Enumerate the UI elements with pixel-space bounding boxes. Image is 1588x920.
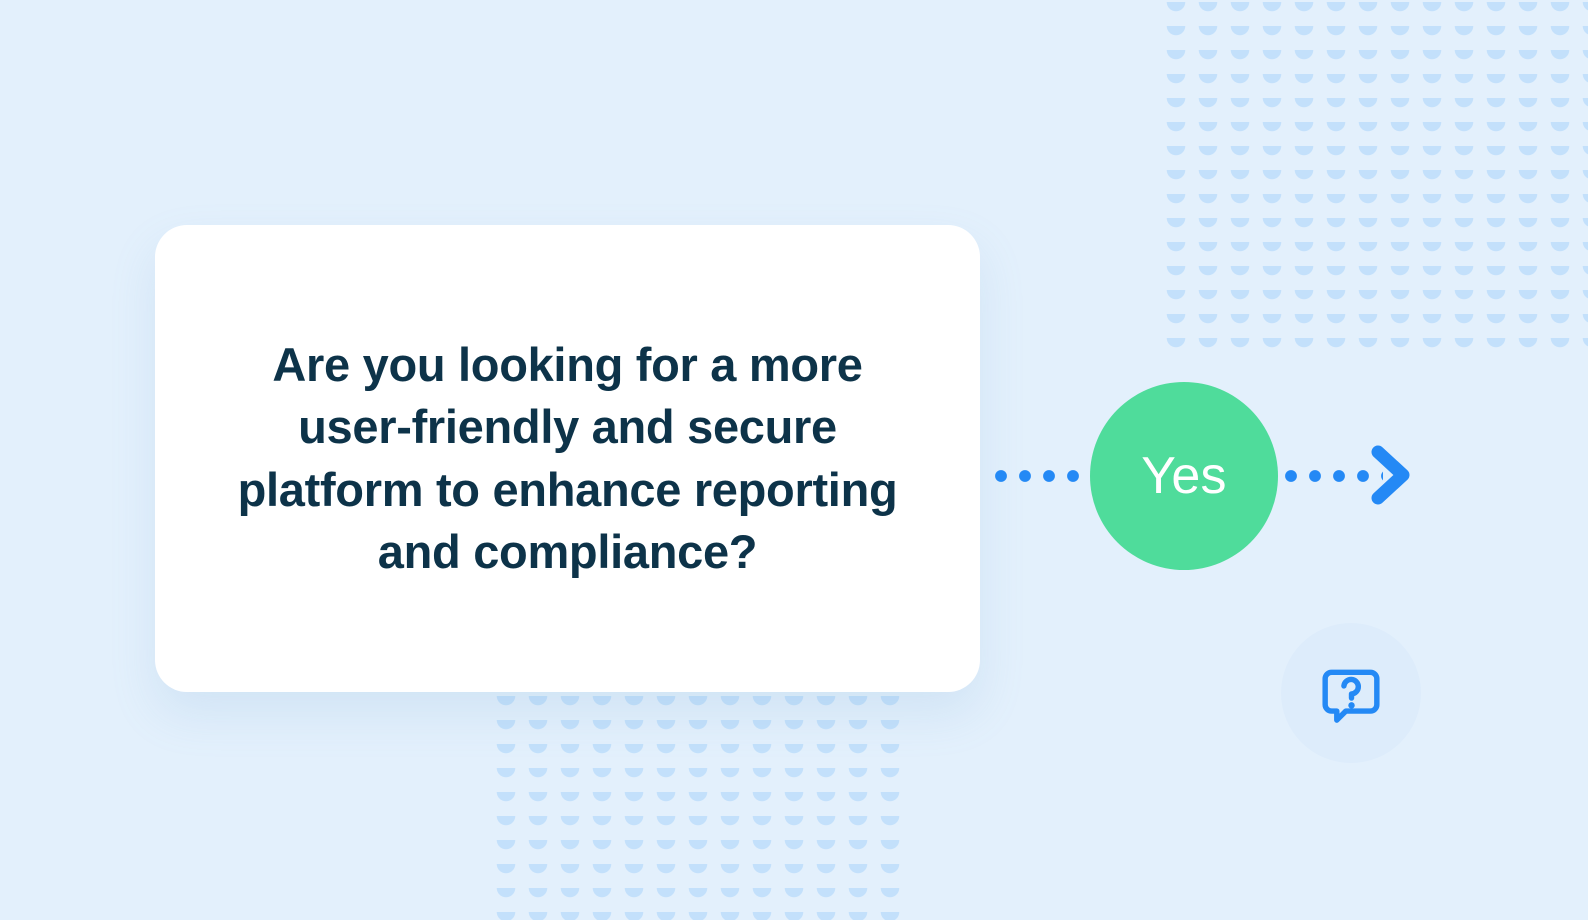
dotted-connector-right xyxy=(1285,470,1383,482)
semicircle-dot-pattern-bottom xyxy=(490,672,900,920)
slide-canvas: Are you looking for a more user-friendly… xyxy=(0,0,1588,920)
question-card: Are you looking for a more user-friendly… xyxy=(155,225,980,692)
chevron-right-icon[interactable] xyxy=(1370,444,1414,506)
answer-node-yes[interactable]: Yes xyxy=(1090,382,1278,570)
question-chat-bubble-icon xyxy=(1320,662,1382,724)
question-text: Are you looking for a more user-friendly… xyxy=(238,334,898,584)
semicircle-dot-pattern-top-right xyxy=(1160,2,1588,350)
answer-node-label: Yes xyxy=(1141,450,1226,502)
help-badge[interactable] xyxy=(1281,623,1421,763)
